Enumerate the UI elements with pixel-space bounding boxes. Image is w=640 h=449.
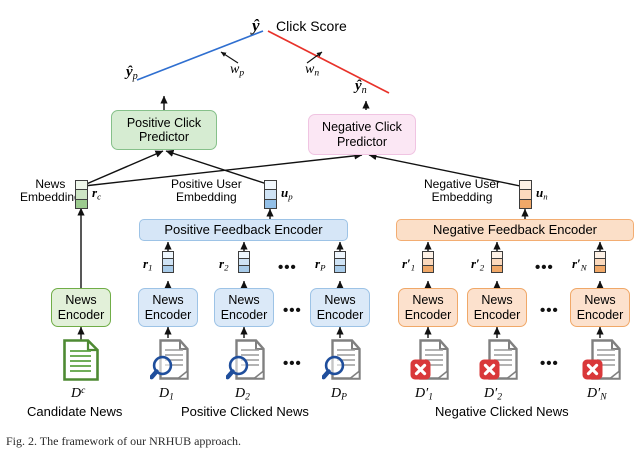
negative-vector-symbol-1: r′1 — [402, 257, 415, 273]
positive-doc-symbol-3: DP — [331, 386, 347, 403]
negative-clicked-news-group-label: Negative Clicked News — [435, 405, 569, 420]
candidate-news-group-label: Candidate News — [27, 405, 122, 420]
positive-click-predictor-line1: Positive Click — [127, 116, 201, 130]
weight-positive-label: wp — [230, 62, 244, 79]
negative-doc-symbol-2: D′2 — [484, 386, 502, 403]
negative-encoder-ellipsis: ••• — [540, 303, 559, 318]
cross-document-icon — [479, 338, 519, 387]
positive-user-embedding-symbol: up — [281, 186, 293, 202]
magnifier-document-icon — [226, 338, 266, 387]
news-embedding-label: News Embedding — [20, 178, 81, 205]
click-score-symbol: ŷ — [252, 16, 260, 35]
positive-encoder-ellipsis: ••• — [283, 303, 302, 318]
negative-vector-symbol-2: r′2 — [471, 257, 484, 273]
cross-document-icon — [582, 338, 622, 387]
positive-vector-3 — [334, 251, 346, 273]
negative-user-embedding-label: Negative User Embedding — [424, 178, 500, 205]
positive-vector-symbol-2: r2 — [219, 257, 228, 273]
negative-vector-ellipsis: ••• — [535, 260, 554, 275]
positive-vector-symbol-3: rP — [315, 257, 325, 273]
magnifier-document-icon — [150, 338, 190, 387]
negative-vector-3 — [594, 251, 606, 273]
negative-doc-ellipsis: ••• — [540, 356, 559, 371]
positive-vector-1 — [162, 251, 174, 273]
positive-click-predictor-line2: Predictor — [127, 130, 201, 144]
news-encoder-positive-3[interactable]: NewsEncoder — [310, 288, 370, 327]
news-encoder-candidate[interactable]: NewsEncoder — [51, 288, 111, 327]
negative-click-predictor-line1: Negative Click — [322, 120, 402, 134]
negative-vector-2 — [491, 251, 503, 273]
positive-user-embedding-vector — [264, 180, 277, 209]
positive-vector-2 — [238, 251, 250, 273]
cross-document-icon — [410, 338, 450, 387]
news-encoder-positive-1[interactable]: NewsEncoder — [138, 288, 198, 327]
positive-vector-ellipsis: ••• — [278, 260, 297, 275]
news-embedding-symbol: rc — [92, 186, 101, 202]
figure-canvas: ŷ Click Score ŷp ŷn wp wn Positive Cl… — [0, 0, 640, 443]
news-embedding-vector — [75, 180, 88, 209]
positive-feedback-encoder[interactable]: Positive Feedback Encoder — [139, 219, 348, 241]
positive-vector-symbol-1: r1 — [143, 257, 152, 273]
candidate-doc-symbol: Dc — [71, 386, 85, 402]
positive-user-embedding-label: Positive User Embedding — [171, 178, 242, 205]
negative-doc-symbol-1: D′1 — [415, 386, 433, 403]
news-encoder-negative-1[interactable]: NewsEncoder — [398, 288, 458, 327]
positive-score-symbol: ŷp — [126, 64, 138, 82]
positive-doc-symbol-1: D1 — [159, 386, 174, 403]
figure-caption: Fig. 2. The framework of our NRHUB appro… — [6, 434, 241, 449]
negative-user-embedding-vector — [519, 180, 532, 209]
magnifier-document-icon — [322, 338, 362, 387]
news-encoder-negative-2[interactable]: NewsEncoder — [467, 288, 527, 327]
positive-doc-symbol-2: D2 — [235, 386, 250, 403]
negative-vector-symbol-3: r′N — [572, 257, 587, 273]
news-encoder-positive-2[interactable]: NewsEncoder — [214, 288, 274, 327]
positive-clicked-news-group-label: Positive Clicked News — [181, 405, 309, 420]
negative-doc-symbol-3: D′N — [587, 386, 607, 403]
click-score-label: Click Score — [276, 19, 347, 35]
green-document-icon — [62, 338, 100, 387]
negative-user-embedding-symbol: un — [536, 186, 548, 202]
positive-click-predictor[interactable]: Positive Click Predictor — [111, 110, 217, 150]
negative-click-predictor[interactable]: Negative Click Predictor — [308, 114, 416, 155]
positive-doc-ellipsis: ••• — [283, 356, 302, 371]
negative-click-predictor-line2: Predictor — [322, 135, 402, 149]
weight-negative-label: wn — [305, 62, 319, 79]
negative-feedback-encoder[interactable]: Negative Feedback Encoder — [396, 219, 634, 241]
news-encoder-negative-3[interactable]: NewsEncoder — [570, 288, 630, 327]
negative-score-symbol: ŷn — [355, 78, 367, 96]
negative-vector-1 — [422, 251, 434, 273]
